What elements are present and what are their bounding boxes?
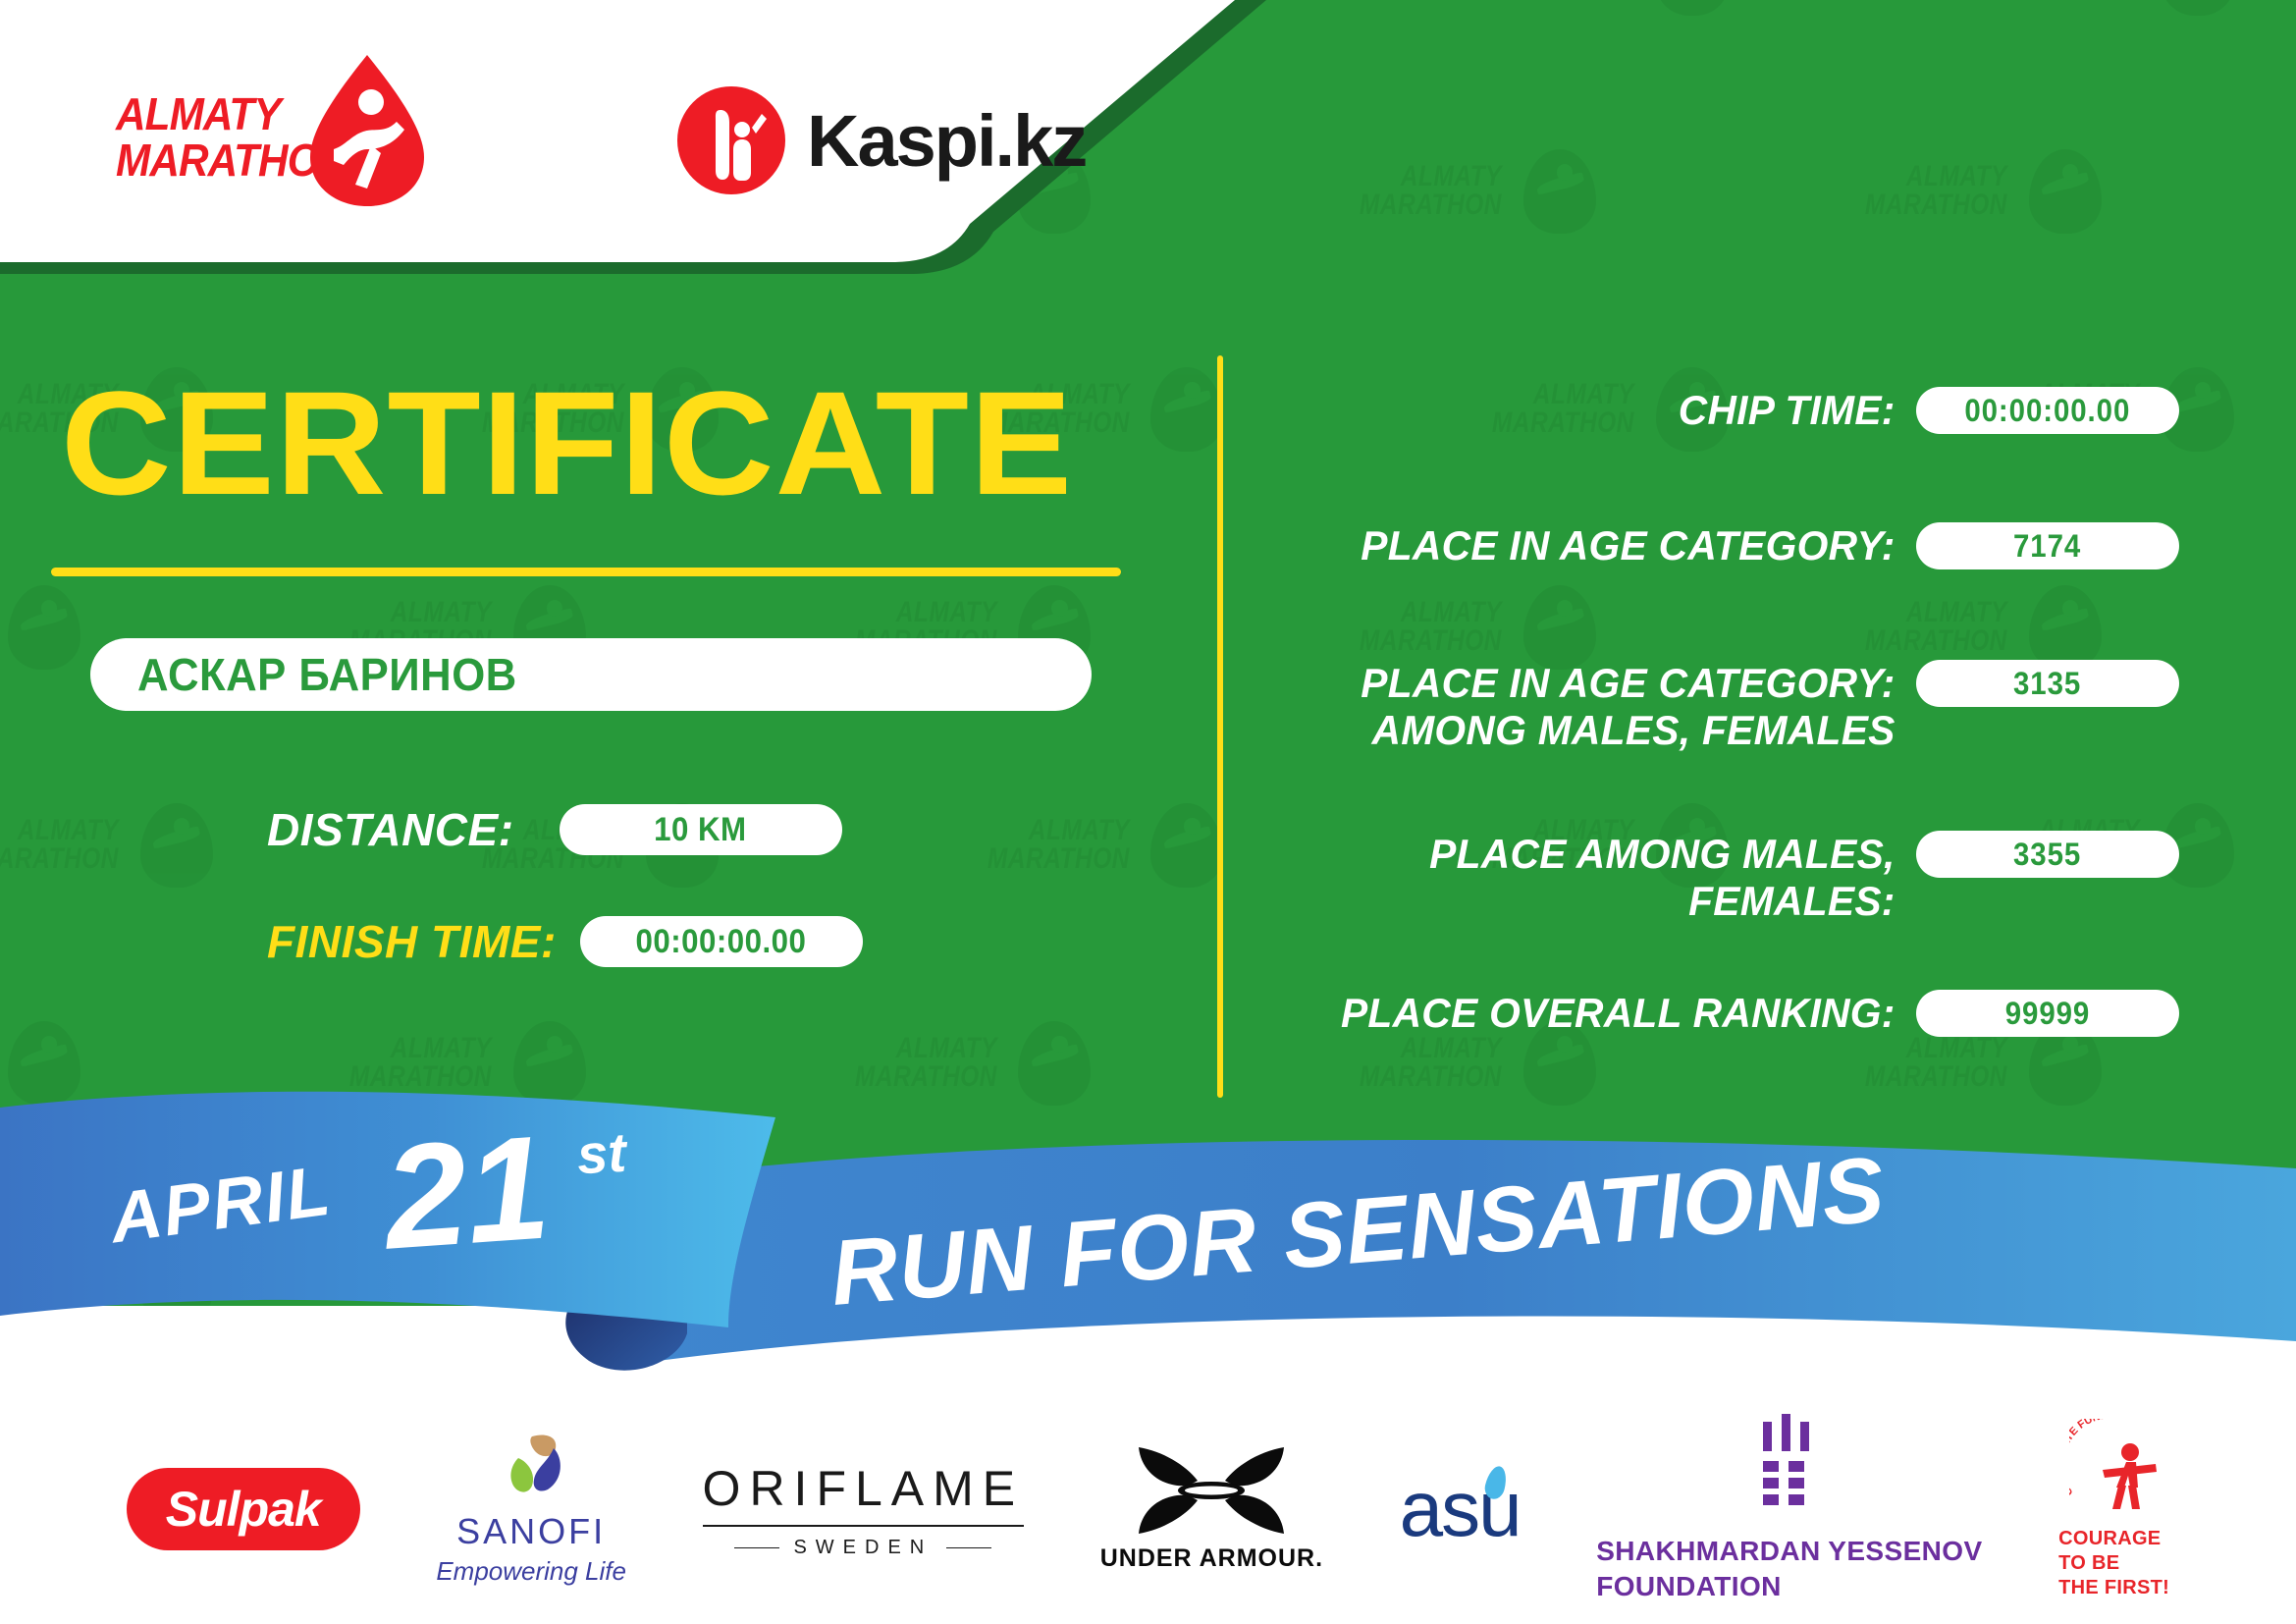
stat-label: PLACE OVERALL RANKING:: [1286, 990, 1916, 1037]
courage-figure-icon: CORPORATE FUND: [2069, 1419, 2160, 1517]
stat-value-pill: 3355: [1916, 831, 2179, 878]
stat-row-place-in-age-category: PLACE IN AGE CATEGORY: 7174: [1266, 522, 2179, 569]
almaty-marathon-logo: ALMATY MARATHON: [116, 59, 440, 216]
stat-row-place-overall-ranking: PLACE OVERALL RANKING: 99999: [1266, 990, 2179, 1037]
finish-time-row: FINISH TIME: 00:00:00.00: [267, 915, 863, 968]
courage-arc-text: CORPORATE FUND: [2069, 1419, 2109, 1498]
sanofi-tagline: Empowering Life: [436, 1556, 626, 1587]
courage-line1: COURAGE: [2058, 1527, 2169, 1551]
sponsor-sanofi: SANOFI Empowering Life: [436, 1433, 626, 1587]
participant-name-field: АСКАР БАРИНОВ: [90, 638, 1092, 711]
yessenov-line2: FOUNDATION: [1596, 1569, 1982, 1604]
finish-time-label: FINISH TIME:: [267, 915, 557, 968]
stat-value: 7174: [2013, 528, 2081, 565]
title-underline-rule: [51, 568, 1121, 576]
stat-row-place-among-males-females: PLACE AMONG MALES, FEMALES: 3355: [1266, 831, 2179, 925]
column-divider: [1217, 355, 1223, 1098]
sulpak-wordmark: Sulpak: [127, 1468, 360, 1550]
event-date-ribbon: [0, 1070, 2296, 1384]
yessenov-wordmark: SHAKHMARDAN YESSENOV FOUNDATION: [1596, 1534, 1982, 1605]
page-title: CERTIFICATE: [61, 369, 1073, 516]
stat-value: 3355: [2013, 837, 2081, 873]
stat-label: PLACE IN AGE CATEGORY: AMONG MALES, FEMA…: [1286, 660, 1916, 754]
kaspi-kz-logo: Kaspi.kz: [677, 86, 1086, 194]
distance-value: 10 KM: [654, 811, 746, 849]
sponsor-asu: asu: [1400, 1470, 1521, 1548]
oriflame-rule-left: [734, 1547, 779, 1548]
kaspi-kz-wordmark: Kaspi.kz: [807, 99, 1086, 183]
distance-label: DISTANCE:: [267, 803, 514, 856]
stat-value: 3135: [2013, 666, 2081, 702]
stat-row-place-in-age-category-among-males-females: PLACE IN AGE CATEGORY: AMONG MALES, FEMA…: [1266, 660, 2179, 754]
certificate-page: ALMATYMARATHONALMATYMARATHONALMATYMARATH…: [0, 0, 2296, 1624]
svg-text:CORPORATE FUND: CORPORATE FUND: [2069, 1419, 2109, 1498]
stat-value-pill: 7174: [1916, 522, 2179, 569]
under-armour-mark-icon: [1129, 1445, 1294, 1536]
yessenov-bars-icon: [1759, 1414, 1820, 1508]
finish-time-value-pill: 00:00:00.00: [580, 916, 863, 967]
participant-name-value: АСКАР БАРИНОВ: [137, 648, 517, 701]
oriflame-wordmark: ORIFLAME: [703, 1460, 1025, 1527]
finish-time-value: 00:00:00.00: [636, 923, 807, 961]
distance-row: DISTANCE: 10 KM: [267, 803, 842, 856]
stat-value-pill: 3135: [1916, 660, 2179, 707]
stat-value-pill: 99999: [1916, 990, 2179, 1037]
stat-label: PLACE AMONG MALES, FEMALES:: [1286, 831, 1916, 925]
stat-value: 99999: [2005, 996, 2090, 1032]
sponsor-sulpak: Sulpak: [127, 1468, 360, 1550]
sponsor-courage-fund: CORPORATE FUND COURAGE TO BE THE FIRST!: [2058, 1419, 2169, 1600]
asu-wordmark: asu: [1400, 1470, 1521, 1548]
courage-line3: THE FIRST!: [2058, 1576, 2169, 1600]
sanofi-mark-icon: [493, 1433, 569, 1507]
stat-label: PLACE IN AGE CATEGORY:: [1286, 522, 1916, 569]
sponsor-logo-strip: Sulpak SANOFI Empowering Life ORIFLAME S…: [0, 1394, 2296, 1624]
runner-drop-icon: [298, 51, 436, 208]
oriflame-tagline: SWEDEN: [793, 1537, 933, 1559]
courage-wordmark: COURAGE TO BE THE FIRST!: [2058, 1527, 2169, 1600]
stat-label: CHIP TIME:: [1286, 387, 1916, 434]
stat-value: 00:00:00.00: [1965, 393, 2131, 429]
oriflame-tagline-wrap: SWEDEN: [703, 1537, 1025, 1559]
sanofi-wordmark: SANOFI: [456, 1511, 606, 1552]
oriflame-rule-right: [946, 1547, 991, 1548]
stat-value-pill: 00:00:00.00: [1916, 387, 2179, 434]
courage-line2: TO BE: [2058, 1551, 2169, 1576]
stat-row-chip-time: CHIP TIME: 00:00:00.00: [1266, 387, 2179, 434]
sponsor-oriflame: ORIFLAME SWEDEN: [703, 1460, 1025, 1559]
sponsor-yessenov-foundation: SHAKHMARDAN YESSENOV FOUNDATION: [1596, 1414, 1982, 1605]
sponsor-under-armour: UNDER ARMOUR.: [1100, 1445, 1323, 1573]
distance-value-pill: 10 KM: [560, 804, 842, 855]
yessenov-line1: SHAKHMARDAN YESSENOV: [1596, 1534, 1982, 1569]
under-armour-wordmark: UNDER ARMOUR.: [1100, 1544, 1323, 1573]
kaspi-figures-icon: [677, 86, 785, 194]
